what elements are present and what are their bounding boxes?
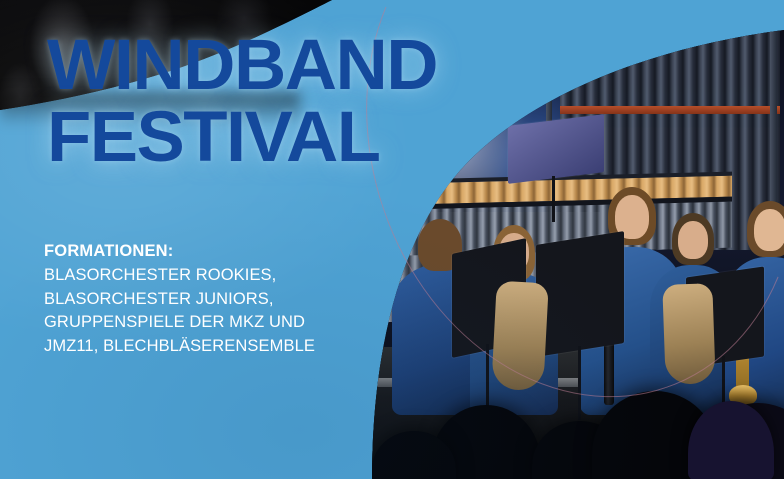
photo-music-stand-b-leg [578,346,581,420]
title-line-festival: FESTIVAL [47,105,618,170]
formations-block: FORMATIONEN: BLASORCHESTER ROOKIES, BLAS… [44,240,374,358]
photo-player-5-head [754,209,784,251]
photo-chair-b [662,283,715,385]
formations-line-3: GRUPPENSPIELE DER MKZ UND [44,311,374,334]
poster-canvas: WINDBAND FESTIVAL FORMATIONEN: BLASORCHE… [0,0,784,479]
photo-player-4-head [678,221,708,259]
formations-label: FORMATIONEN: [44,240,374,263]
photo-music-stand-b [536,231,624,357]
formations-line-1: BLASORCHESTER ROOKIES, [44,264,374,287]
page-title: WINDBAND FESTIVAL [47,33,607,170]
formations-line-2: BLASORCHESTER JUNIORS, [44,288,374,311]
photo-chair-a [491,281,549,392]
title-line-windband: WINDBAND [47,33,618,98]
formations-line-4: JMZ11, BLECHBLÄSERENSEMBLE [44,335,374,358]
photo-music-stand-back-leg [552,176,555,222]
